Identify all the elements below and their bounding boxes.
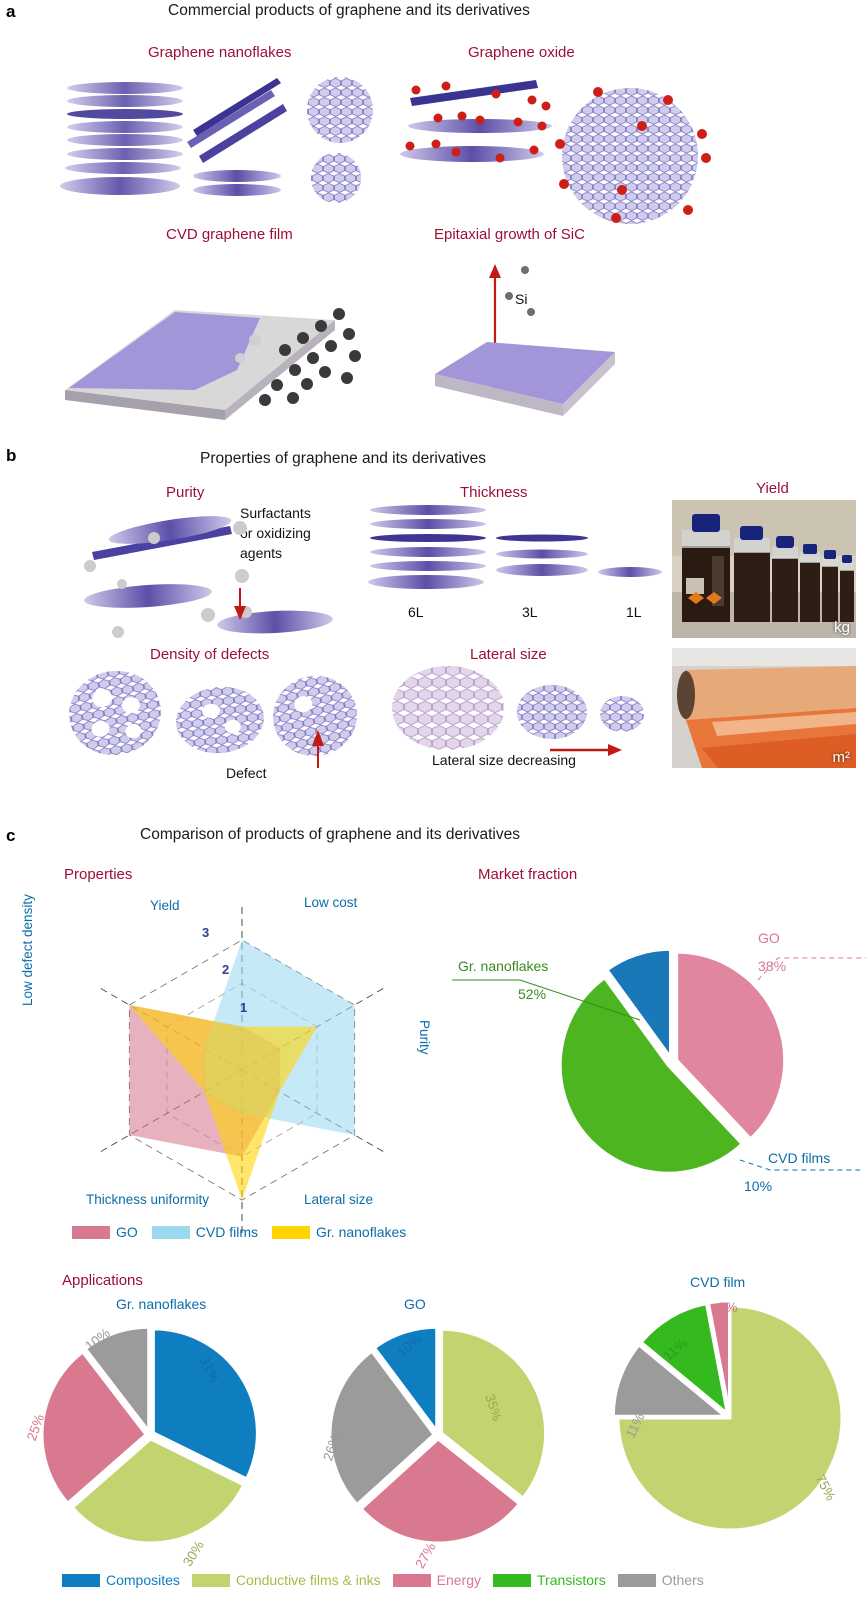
label-graphene-nanoflakes: Graphene nanoflakes	[148, 44, 291, 61]
market-leader-lines	[440, 920, 866, 1210]
panel-a-letter: a	[6, 2, 15, 22]
graphene-nanoflakes-illustration	[60, 70, 380, 200]
legend-swatch-nanoflakes	[272, 1226, 310, 1239]
legend-label-transistors: Transistors	[537, 1572, 606, 1588]
app-legend-item-conductive: Conductive films & inks	[192, 1572, 381, 1588]
app-legend-item-composites: Composites	[62, 1572, 180, 1588]
app-value-cvd-energy: 3%	[718, 1300, 738, 1315]
legend-swatch-others	[618, 1574, 656, 1587]
app-legend-item-energy: Energy	[393, 1572, 481, 1588]
market-fraction-section-title: Market fraction	[478, 866, 577, 883]
density-of-defects-illustration	[60, 668, 360, 768]
radar-ring-label-3: 3	[202, 925, 209, 940]
radar-legend: GO CVD films Gr. nanoflakes	[72, 1224, 406, 1240]
purity-illustration	[80, 500, 360, 640]
properties-section-title: Properties	[64, 866, 132, 883]
radar-legend-item-nanoflakes: Gr. nanoflakes	[272, 1224, 406, 1240]
radar-axis-label-low-defect-density: Low defect density	[20, 894, 35, 1006]
yield-photo-bottles: kg	[672, 500, 856, 638]
applications-legend: Composites Conductive films & inks Energ…	[62, 1572, 704, 1588]
label-yield: Yield	[756, 480, 789, 497]
app-legend-item-transistors: Transistors	[493, 1572, 606, 1588]
epitaxial-sic-illustration: Si	[425, 250, 655, 420]
panel-c-title: Comparison of products of graphene and i…	[140, 826, 520, 844]
legend-label-cvd-films: CVD films	[196, 1224, 258, 1240]
label-density-of-defects: Density of defects	[150, 646, 269, 663]
label-cvd-graphene-film: CVD graphene film	[166, 226, 293, 243]
legend-swatch-transistors	[493, 1574, 531, 1587]
annotation-lateral-size-decreasing: Lateral size decreasing	[432, 752, 576, 768]
radar-legend-item-cvd-films: CVD films	[152, 1224, 258, 1240]
legend-label-composites: Composites	[106, 1572, 180, 1588]
radar-axis-label-lateral-size: Lateral size	[304, 1192, 373, 1207]
app-pie-title-nanoflakes: Gr. nanoflakes	[116, 1296, 206, 1312]
radar-axis-label-low-cost: Low cost	[304, 895, 357, 910]
legend-swatch-go	[72, 1226, 110, 1239]
legend-swatch-energy	[393, 1574, 431, 1587]
legend-label-go: GO	[116, 1224, 138, 1240]
applications-pie-cvd-film	[612, 1300, 862, 1555]
label-lateral-size: Lateral size	[470, 646, 547, 663]
panel-c-letter: c	[6, 826, 15, 846]
yield-caption-m2: m²	[833, 749, 851, 766]
graphene-oxide-illustration	[400, 68, 720, 208]
panel-a-title: Commercial products of graphene and its …	[168, 2, 530, 20]
legend-label-nanoflakes: Gr. nanoflakes	[316, 1224, 406, 1240]
yield-photo-copper-foil: m²	[672, 648, 856, 768]
thickness-label-3l: 3L	[522, 604, 538, 620]
legend-swatch-cvd-films	[152, 1226, 190, 1239]
radar-chart	[34, 890, 454, 1220]
applications-pie-go	[328, 1325, 558, 1555]
lateral-size-illustration	[390, 664, 660, 754]
thickness-illustration	[366, 500, 666, 600]
radar-axis-label-yield: Yield	[150, 898, 180, 913]
app-pie-title-go: GO	[404, 1296, 426, 1312]
panel-b-letter: b	[6, 446, 16, 466]
panel-b-title: Properties of graphene and its derivativ…	[200, 450, 486, 468]
legend-swatch-conductive	[192, 1574, 230, 1587]
legend-swatch-composites	[62, 1574, 100, 1587]
app-legend-item-others: Others	[618, 1572, 704, 1588]
si-label: Si	[515, 291, 527, 307]
label-thickness: Thickness	[460, 484, 528, 501]
thickness-label-6l: 6L	[408, 604, 424, 620]
radar-axis-label-thickness-uniformity: Thickness uniformity	[86, 1192, 209, 1207]
radar-ring-label-2: 2	[222, 962, 229, 977]
yield-caption-kg: kg	[834, 619, 850, 636]
radar-legend-item-go: GO	[72, 1224, 138, 1240]
label-purity: Purity	[166, 484, 204, 501]
legend-label-energy: Energy	[437, 1572, 481, 1588]
annotation-defect: Defect	[226, 765, 266, 781]
radar-axis-label-purity: Purity	[417, 1020, 432, 1055]
thickness-label-1l: 1L	[626, 604, 642, 620]
label-epitaxial-growth-sic: Epitaxial growth of SiC	[434, 226, 585, 243]
legend-label-others: Others	[662, 1572, 704, 1588]
legend-label-conductive: Conductive films & inks	[236, 1572, 381, 1588]
applications-section-title: Applications	[62, 1272, 143, 1289]
applications-pie-nanoflakes	[40, 1325, 270, 1555]
cvd-graphene-film-illustration	[55, 280, 405, 420]
label-graphene-oxide: Graphene oxide	[468, 44, 575, 61]
radar-ring-label-1: 1	[240, 1000, 247, 1015]
app-pie-title-cvd-film: CVD film	[690, 1274, 745, 1290]
